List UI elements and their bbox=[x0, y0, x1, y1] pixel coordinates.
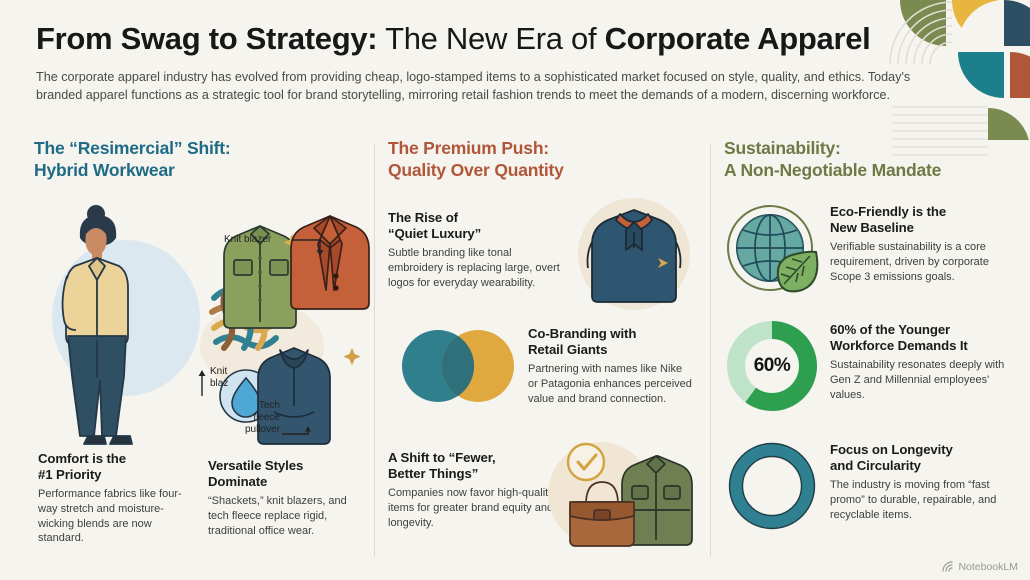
block-versatile-title-l2: Dominate bbox=[208, 474, 368, 490]
circle-ring-icon bbox=[724, 438, 820, 538]
column-2-heading: The Premium Push: Quality Over Quantity bbox=[388, 138, 706, 181]
label-knit-blaz-line1: Knit bbox=[210, 366, 228, 378]
column-resimercial-shift: The “Resimercial” Shift: Hybrid Workwear bbox=[34, 138, 370, 568]
column-premium-push: The Premium Push: Quality Over Quantity … bbox=[388, 138, 706, 568]
row-eco-friendly: Eco-Friendly is the New Baseline Verifia… bbox=[724, 200, 1002, 312]
block-longevity: Focus on Longevity and Circularity The i… bbox=[830, 442, 1008, 522]
arrow-to-hoodie-icon bbox=[282, 426, 316, 438]
quality-check-badge-icon bbox=[568, 444, 604, 480]
block-eco-friendly-title-l1: Eco-Friendly is the bbox=[830, 204, 1008, 220]
columns-container: The “Resimercial” Shift: Hybrid Workwear bbox=[0, 138, 1030, 568]
block-co-branding-body: Partnering with names like Nike or Patag… bbox=[528, 362, 694, 406]
column-2-heading-line2: Quality Over Quantity bbox=[388, 160, 706, 182]
label-tech-fleece-pullover: Tech fleece pullover bbox=[224, 400, 280, 435]
block-younger-workforce: 60% of the Younger Workforce Demands It … bbox=[830, 322, 1008, 402]
label-tech-line1: Tech bbox=[224, 400, 280, 412]
column-1-heading-line2: Hybrid Workwear bbox=[34, 160, 370, 182]
notebooklm-icon bbox=[942, 561, 954, 573]
block-younger-workforce-title: 60% of the Younger Workforce Demands It bbox=[830, 322, 1008, 354]
column-3-heading-line1: Sustainability: bbox=[724, 138, 1002, 160]
block-younger-workforce-body: Sustainability resonates deeply with Gen… bbox=[830, 358, 1008, 402]
globe-leaf-icon bbox=[724, 200, 820, 300]
label-knit-blazer-text: Knit blazer bbox=[224, 234, 271, 245]
block-fewer-better-body: Companies now favor high-quality items f… bbox=[388, 486, 556, 530]
circle-ring-svg bbox=[724, 438, 820, 534]
quality-goods-illustration bbox=[540, 436, 706, 556]
block-comfort-body: Performance fabrics like four-way stretc… bbox=[38, 487, 188, 546]
column-3-heading-line2: A Non-Negotiable Mandate bbox=[724, 160, 1002, 182]
arrow-to-blazer-icon bbox=[290, 235, 334, 257]
watermark: NotebookLM bbox=[942, 561, 1018, 573]
block-comfort-priority: Comfort is the #1 Priority Performance f… bbox=[38, 451, 188, 546]
block-longevity-title-l2: and Circularity bbox=[830, 458, 1008, 474]
block-fewer-better-title: A Shift to “Fewer, Better Things” bbox=[388, 450, 556, 482]
column-1-heading-line1: The “Resimercial” Shift: bbox=[34, 138, 370, 160]
page-title: From Swag to Strategy: The New Era of Co… bbox=[36, 22, 966, 57]
block-co-branding-title: Co-Branding with Retail Giants bbox=[528, 326, 694, 358]
column-1-heading: The “Resimercial” Shift: Hybrid Workwear bbox=[34, 138, 370, 181]
polo-svg bbox=[558, 196, 710, 312]
block-fewer-better-title-l1: A Shift to “Fewer, bbox=[388, 450, 556, 466]
column-2-heading-line1: The Premium Push: bbox=[388, 138, 706, 160]
block-longevity-body: The industry is moving from “fast promo”… bbox=[830, 478, 1008, 522]
block-quiet-luxury-title-l1: The Rise of bbox=[388, 210, 564, 226]
globe-leaf-svg bbox=[724, 200, 820, 300]
donut-chart-icon: 60% bbox=[724, 318, 820, 418]
block-quiet-luxury: The Rise of “Quiet Luxury” Subtle brandi… bbox=[388, 210, 564, 290]
label-knit-blaz: Knit blaz bbox=[210, 366, 228, 390]
label-tech-line3: pullover bbox=[224, 424, 280, 436]
co-branding-venn-illustration bbox=[392, 324, 520, 408]
block-quiet-luxury-title: The Rise of “Quiet Luxury” bbox=[388, 210, 564, 242]
row-younger-workforce: 60% 60% of the Younger Workforce Demands… bbox=[724, 318, 1002, 430]
block-fewer-better-things: A Shift to “Fewer, Better Things” Compan… bbox=[388, 450, 556, 530]
block-eco-friendly-title-l2: New Baseline bbox=[830, 220, 1008, 236]
block-comfort-title-l2: #1 Priority bbox=[38, 467, 188, 483]
row-longevity-circularity: Focus on Longevity and Circularity The i… bbox=[724, 438, 1002, 550]
page-subtitle: The corporate apparel industry has evolv… bbox=[36, 68, 916, 105]
block-co-branding-title-l2: Retail Giants bbox=[528, 342, 694, 358]
quality-goods-svg bbox=[540, 436, 706, 556]
block-longevity-title-l1: Focus on Longevity bbox=[830, 442, 1008, 458]
donut-center-label: 60% bbox=[724, 318, 820, 414]
block-fewer-better-title-l2: Better Things” bbox=[388, 466, 556, 482]
label-knit-blazer: Knit blazer bbox=[224, 234, 271, 246]
block-eco-friendly-title: Eco-Friendly is the New Baseline bbox=[830, 204, 1008, 236]
block-eco-friendly: Eco-Friendly is the New Baseline Verifia… bbox=[830, 204, 1008, 284]
column-3-heading: Sustainability: A Non-Negotiable Mandate bbox=[724, 138, 1002, 181]
label-knit-blaz-line2: blaz bbox=[210, 378, 228, 390]
venn-svg bbox=[392, 324, 520, 408]
block-younger-workforce-title-l2: Workforce Demands It bbox=[830, 338, 1008, 354]
block-versatile-body: “Shackets,” knit blazers, and tech fleec… bbox=[208, 494, 368, 538]
column-divider-1 bbox=[374, 144, 375, 556]
column-divider-2 bbox=[710, 144, 711, 556]
block-co-branding-title-l1: Co-Branding with bbox=[528, 326, 694, 342]
arrow-up-icon bbox=[196, 368, 208, 398]
block-eco-friendly-body: Verifiable sustainability is a core requ… bbox=[830, 240, 1008, 284]
label-tech-line2: fleece bbox=[224, 412, 280, 424]
page-title-bold-lead: From Swag to Strategy: bbox=[36, 21, 377, 56]
column-sustainability: Sustainability: A Non-Negotiable Mandate bbox=[724, 138, 1002, 568]
block-versatile-styles: Versatile Styles Dominate “Shackets,” kn… bbox=[208, 458, 368, 538]
block-comfort-title: Comfort is the #1 Priority bbox=[38, 451, 188, 483]
rust-blazer-icon bbox=[291, 216, 369, 309]
block-versatile-title: Versatile Styles Dominate bbox=[208, 458, 368, 490]
block-versatile-title-l1: Versatile Styles bbox=[208, 458, 368, 474]
block-younger-workforce-title-l1: 60% of the Younger bbox=[830, 322, 1008, 338]
watermark-label: NotebookLM bbox=[958, 561, 1018, 573]
block-quiet-luxury-title-l2: “Quiet Luxury” bbox=[388, 226, 564, 242]
block-comfort-title-l1: Comfort is the bbox=[38, 451, 188, 467]
polo-shirt-illustration bbox=[558, 196, 710, 312]
block-quiet-luxury-body: Subtle branding like tonal embroidery is… bbox=[388, 246, 564, 290]
header: From Swag to Strategy: The New Era of Co… bbox=[36, 22, 966, 104]
infographic-page: From Swag to Strategy: The New Era of Co… bbox=[0, 0, 1030, 580]
block-co-branding: Co-Branding with Retail Giants Partnerin… bbox=[528, 326, 694, 406]
block-longevity-title: Focus on Longevity and Circularity bbox=[830, 442, 1008, 474]
page-title-bold-tail: Corporate Apparel bbox=[605, 21, 871, 56]
page-title-regular-mid: The New Era of bbox=[377, 21, 604, 56]
